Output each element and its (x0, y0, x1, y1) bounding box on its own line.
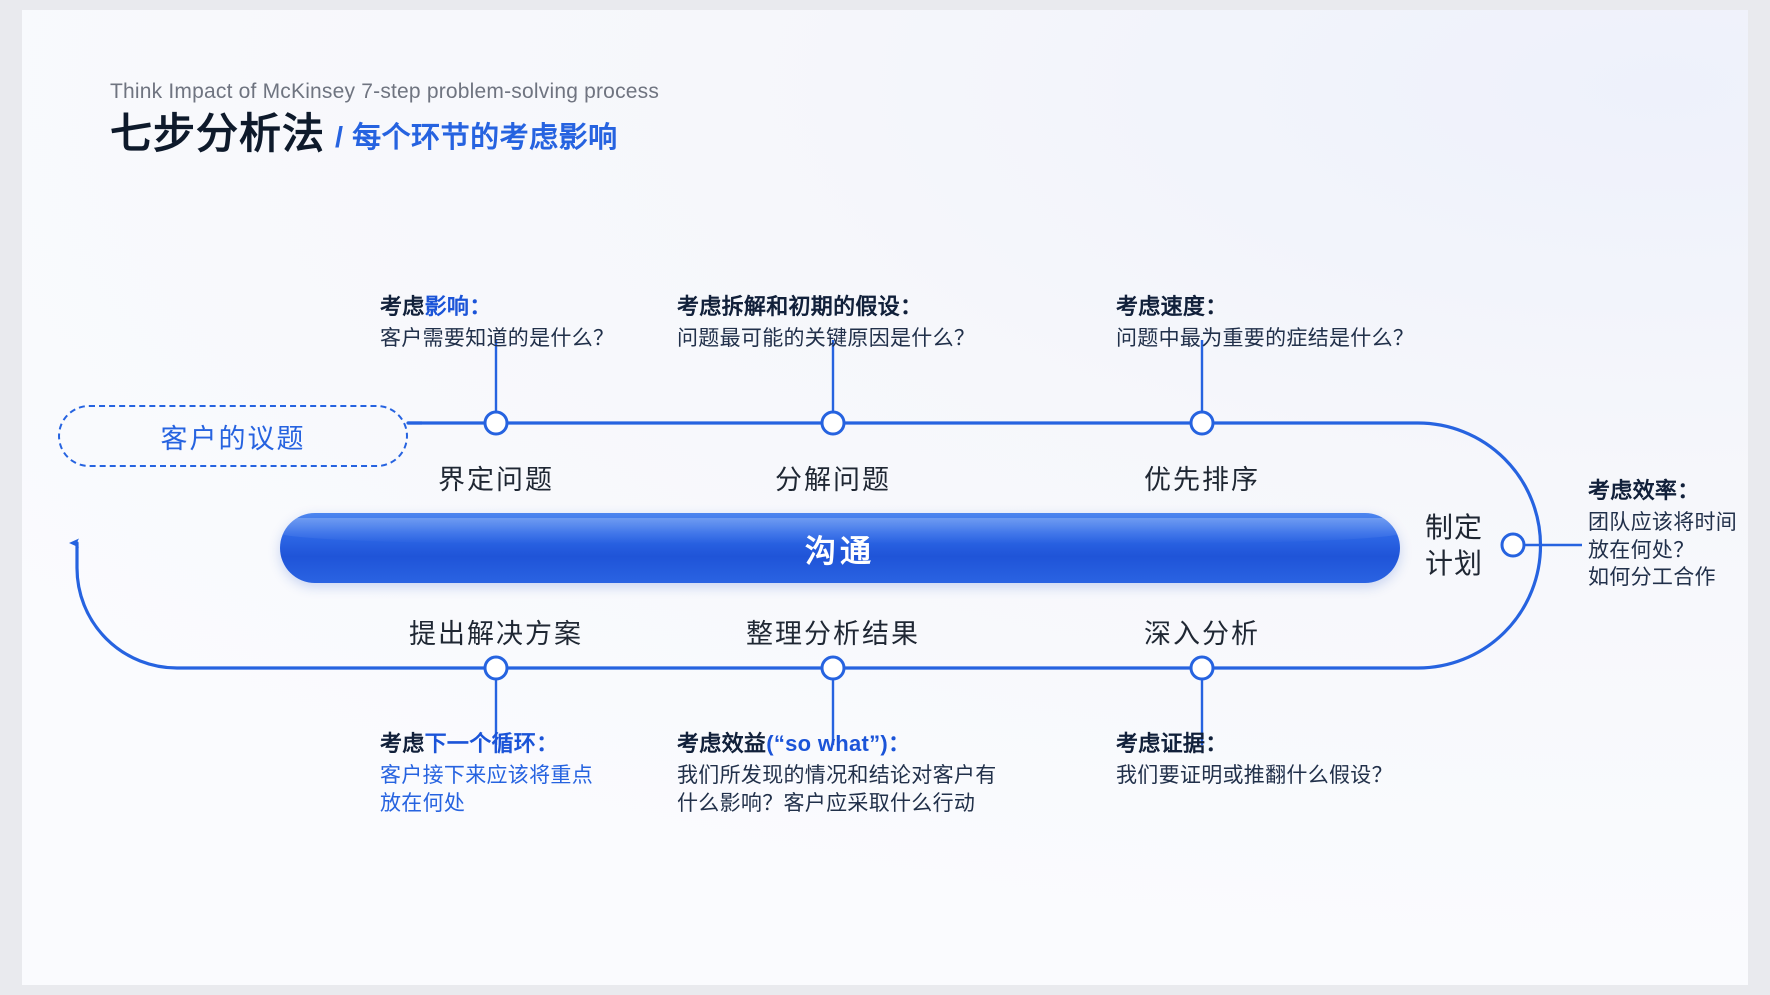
callout-decompose-head: 考虑拆解和初期的假设： (677, 293, 975, 322)
callout-impact-head-plain: 考虑 (380, 294, 425, 319)
step-label-plan: 制定 计划 (1415, 510, 1493, 582)
callout-next-cycle-head-plain: 考虑 (380, 731, 425, 756)
node-analysis[interactable] (1191, 657, 1213, 679)
callout-so-what: 考虑效益(“so what”)： 我们所发现的情况和结论对客户有 什么影响？客户… (677, 730, 997, 817)
callout-next-cycle: 考虑下一个循环： 客户接下来应该将重点 放在何处 (380, 730, 593, 817)
callout-so-what-head-highlight: (“so what”)： (766, 731, 910, 756)
node-decompose[interactable] (822, 412, 844, 434)
callout-impact-head-highlight: 影响： (425, 294, 492, 319)
callout-efficiency-body-line2: 放在何处？ (1588, 537, 1737, 565)
node-solution[interactable] (485, 657, 507, 679)
callout-efficiency-body-line3: 如何分工合作 (1588, 564, 1737, 592)
callout-next-cycle-head-highlight: 下一个循环： (425, 731, 559, 756)
callout-evidence-head-plain: 考虑证据： (1116, 731, 1228, 756)
node-prioritize[interactable] (1191, 412, 1213, 434)
callout-decompose-head-plain: 考虑拆解和初期的假设： (677, 294, 922, 319)
callout-so-what-body-line2: 什么影响？客户应采取什么行动 (677, 790, 997, 818)
node-synthesis[interactable] (822, 657, 844, 679)
slide-canvas: Think Impact of McKinsey 7-step problem-… (22, 10, 1748, 985)
node-define[interactable] (485, 412, 507, 434)
flow-path-layer (22, 10, 1748, 985)
callout-decompose-hypothesis: 考虑拆解和初期的假设： 问题最可能的关键原因是什么？ (677, 293, 975, 353)
callout-speed-head: 考虑速度： (1116, 293, 1414, 322)
step-label-plan-line2: 计划 (1415, 546, 1493, 582)
callout-speed-body: 问题中最为重要的症结是什么？ (1116, 325, 1414, 353)
callout-efficiency-head-plain: 考虑效率： (1588, 478, 1700, 503)
communication-bar[interactable]: 沟通 (280, 513, 1400, 583)
callout-evidence-head: 考虑证据： (1116, 730, 1393, 759)
callout-evidence-body-line1: 我们要证明或推翻什么假设？ (1116, 762, 1393, 790)
step-label-synthesis: 整理分析结果 (746, 612, 920, 651)
callout-impact: 考虑影响： 客户需要知道的是什么？ (380, 293, 614, 353)
step-label-define: 界定问题 (438, 458, 554, 497)
callout-so-what-body-line1: 我们所发现的情况和结论对客户有 (677, 762, 997, 790)
callout-next-cycle-body-line1: 客户接下来应该将重点 (380, 762, 593, 790)
callout-next-cycle-head: 考虑下一个循环： (380, 730, 593, 759)
step-label-prioritize: 优先排序 (1144, 458, 1260, 497)
step-label-solution: 提出解决方案 (409, 612, 583, 651)
callout-speed: 考虑速度： 问题中最为重要的症结是什么？ (1116, 293, 1414, 353)
callout-evidence: 考虑证据： 我们要证明或推翻什么假设？ (1116, 730, 1393, 790)
start-badge-client-issue[interactable]: 客户的议题 (58, 405, 408, 467)
node-plan[interactable] (1502, 534, 1524, 556)
callout-so-what-head: 考虑效益(“so what”)： (677, 730, 997, 759)
callout-impact-head: 考虑影响： (380, 293, 614, 322)
callout-impact-body: 客户需要知道的是什么？ (380, 325, 614, 353)
step-label-plan-line1: 制定 (1415, 510, 1493, 546)
communication-bar-label: 沟通 (805, 526, 875, 571)
step-label-analysis: 深入分析 (1144, 612, 1260, 651)
callout-speed-head-plain: 考虑速度： (1116, 294, 1228, 319)
callout-decompose-body: 问题最可能的关键原因是什么？ (677, 325, 975, 353)
callout-efficiency-body-line1: 团队应该将时间 (1588, 509, 1737, 537)
step-label-decompose: 分解问题 (775, 458, 891, 497)
callout-so-what-head-plain: 考虑效益 (677, 731, 766, 756)
callout-next-cycle-body-line2: 放在何处 (380, 790, 593, 818)
callout-efficiency-head: 考虑效率： (1588, 477, 1737, 506)
start-badge-label: 客户的议题 (161, 417, 306, 456)
callout-efficiency: 考虑效率： 团队应该将时间 放在何处？ 如何分工合作 (1588, 477, 1737, 592)
